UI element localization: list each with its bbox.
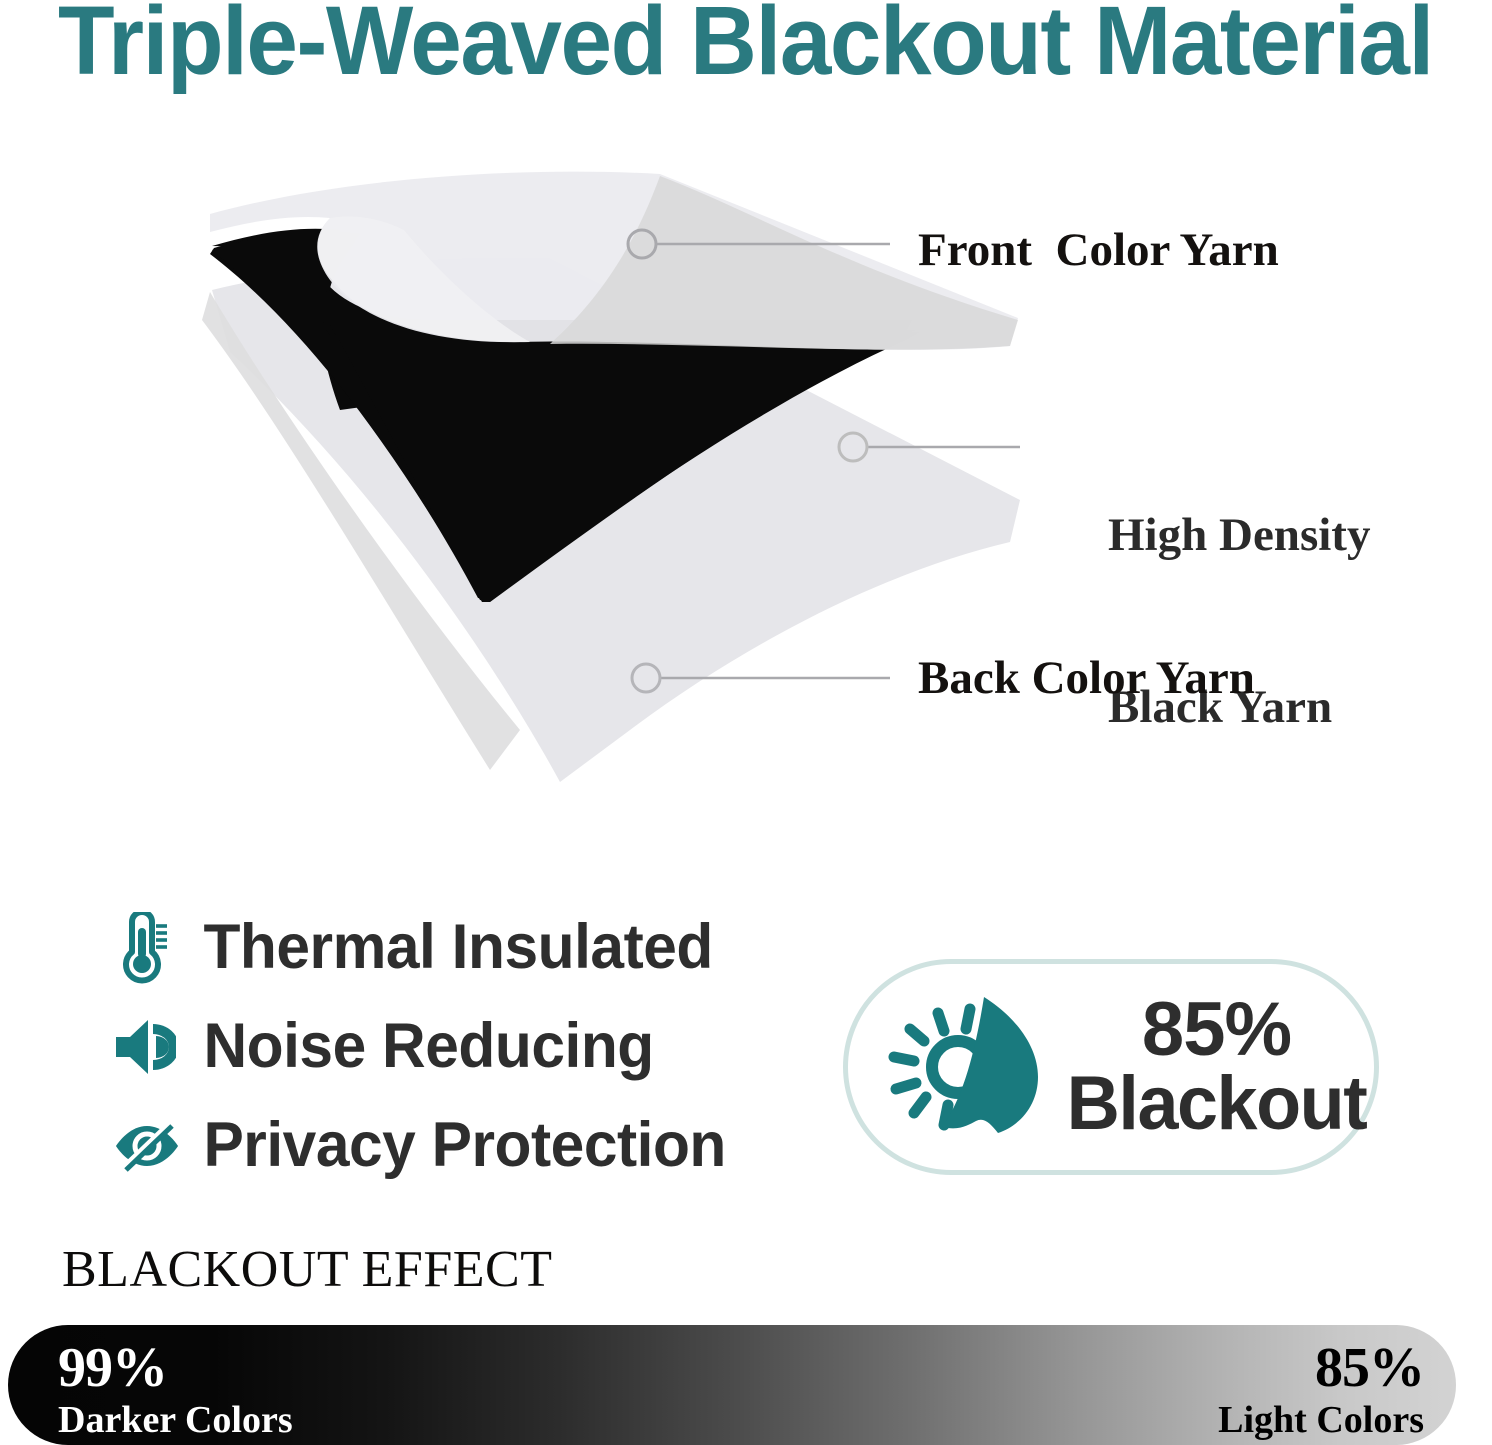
blackout-stat-darker-colors: 99% Darker Colors	[58, 1340, 293, 1439]
speaker-volume-icon	[112, 1016, 190, 1078]
feature-label: Noise Reducing	[190, 1015, 654, 1078]
callout-label-high-density-black-yarn: High Density Black Yarn	[1108, 392, 1370, 793]
eye-off-icon	[112, 1120, 190, 1172]
feature-label: Privacy Protection	[190, 1114, 726, 1177]
badge-text: 85% Blackout	[1062, 993, 1371, 1140]
callout-label-front-color-yarn: Front Color Yarn	[918, 226, 1279, 275]
thermometer-icon	[112, 912, 190, 984]
badge-percent-value: 85%	[1062, 993, 1371, 1067]
blackout-badge: 85% Blackout	[843, 959, 1379, 1175]
feature-row-noise-reducing: Noise Reducing	[112, 997, 812, 1096]
feature-list: Thermal Insulated Noise Reducing Privacy…	[112, 898, 812, 1195]
blackout-stat-light-colors: 85% Light Colors	[1218, 1340, 1424, 1439]
feature-row-thermal-insulated: Thermal Insulated	[112, 898, 812, 997]
blackout-effect-heading: BLACKOUT EFFECT	[62, 1244, 552, 1296]
callout-label-back-color-yarn: Back Color Yarn	[918, 654, 1255, 703]
stat-value: 85%	[1218, 1340, 1424, 1396]
callout-line-1: High Density	[1108, 507, 1370, 564]
badge-blackout-label: Blackout	[1067, 1067, 1367, 1141]
feature-row-privacy-protection: Privacy Protection	[112, 1096, 812, 1195]
stat-value: 99%	[58, 1340, 293, 1396]
feature-label: Thermal Insulated	[190, 916, 713, 979]
sun-behind-curtain-icon	[870, 991, 1060, 1143]
fabric-layer-diagram	[190, 170, 1020, 790]
stat-caption: Light Colors	[1218, 1401, 1424, 1439]
page-title: Triple-Weaved Blackout Material	[58, 0, 1395, 89]
stat-caption: Darker Colors	[58, 1401, 293, 1439]
